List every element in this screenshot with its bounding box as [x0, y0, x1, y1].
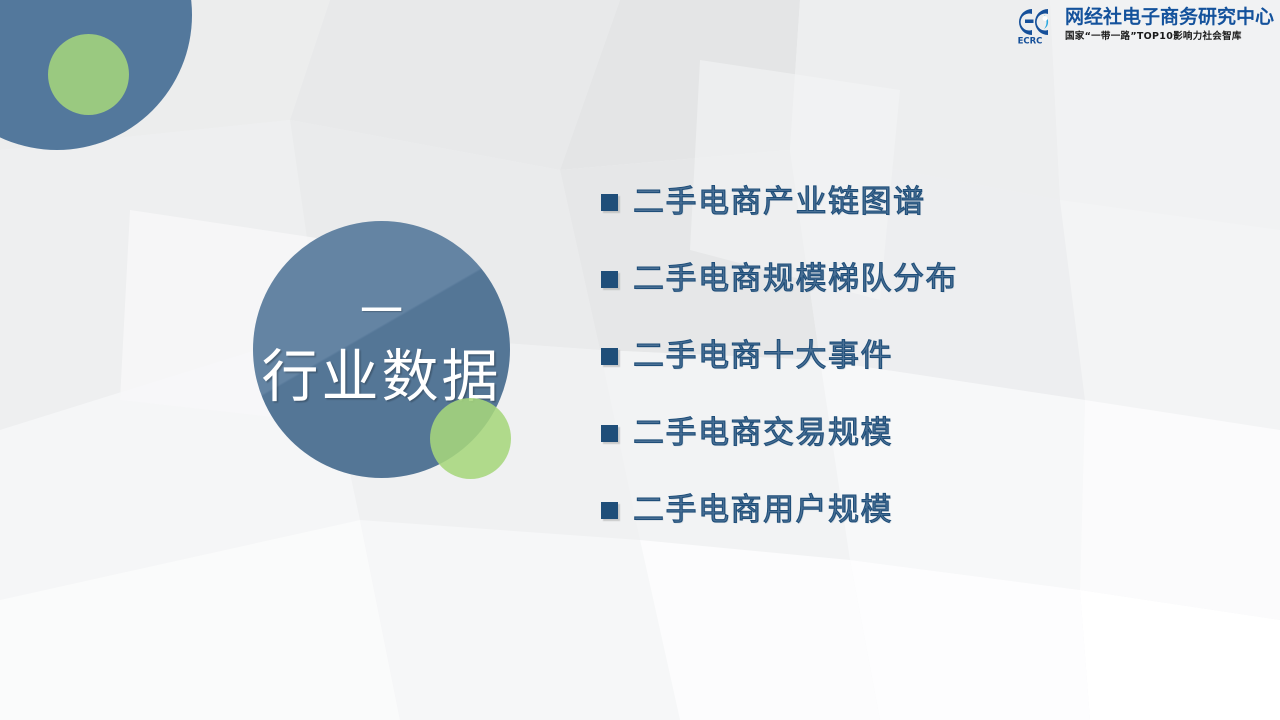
logo-text-block: 网经社电子商务研究中心 国家“一带一路”TOP10影响力社会智库 [1065, 8, 1274, 42]
svg-text:ECRC: ECRC [1018, 37, 1043, 46]
logo-title: 网经社电子商务研究中心 [1065, 8, 1274, 28]
accent-green-circle-decoration [430, 398, 511, 479]
square-bullet-icon [601, 348, 618, 365]
corner-green-circle-decoration [48, 34, 129, 115]
square-bullet-icon [601, 502, 618, 519]
bullet-item-label: 二手电商十大事件 [633, 341, 893, 372]
list-item[interactable]: 二手电商交易规模 [601, 413, 1201, 453]
agenda-bullet-list: 二手电商产业链图谱 二手电商规模梯队分布 二手电商十大事件 二手电商交易规模 二… [601, 182, 1201, 567]
ecrc-logo-icon: ECRC [1015, 5, 1063, 45]
square-bullet-icon [601, 425, 618, 442]
brand-logo[interactable]: ECRC 网经社电子商务研究中心 国家“一带一路”TOP10影响力社会智库 [1015, 5, 1274, 45]
bullet-item-label: 二手电商用户规模 [633, 495, 893, 526]
list-item[interactable]: 二手电商用户规模 [601, 490, 1201, 530]
list-item[interactable]: 二手电商产业链图谱 [601, 182, 1201, 222]
list-item[interactable]: 二手电商规模梯队分布 [601, 259, 1201, 299]
bullet-item-label: 二手电商产业链图谱 [633, 187, 926, 218]
square-bullet-icon [601, 271, 618, 288]
bullet-item-label: 二手电商交易规模 [633, 418, 893, 449]
list-item[interactable]: 二手电商十大事件 [601, 336, 1201, 376]
bullet-item-label: 二手电商规模梯队分布 [633, 264, 958, 295]
section-index-number: 一 [360, 291, 403, 334]
slide-root: 一 行业数据 二手电商产业链图谱 二手电商规模梯队分布 二手电商十大事件 二手电… [0, 0, 1280, 720]
logo-subtitle: 国家“一带一路”TOP10影响力社会智库 [1065, 31, 1274, 42]
square-bullet-icon [601, 194, 618, 211]
